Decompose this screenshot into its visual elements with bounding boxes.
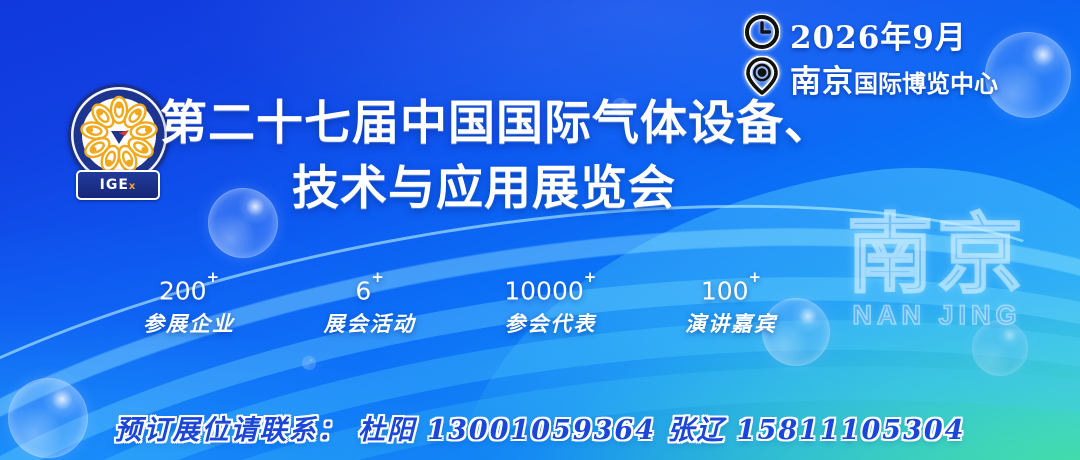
title-line-1: 第二十七届中国国际气体设备、 <box>160 92 800 157</box>
event-date-row: 2026年9月 <box>744 12 1044 56</box>
stat-number: 6+ <box>311 278 429 305</box>
contact-text: 预订展位请联系： 杜阳 13001059364 张辽 15811105304 <box>115 415 966 446</box>
logo-name-banner: IGEx <box>76 170 160 200</box>
stat-item-speakers: 100+ 演讲嘉宾 <box>672 278 790 338</box>
stat-number: 100+ <box>672 278 790 305</box>
bubble-icon-right-lower <box>972 320 1028 376</box>
stat-item-events: 6+ 展会活动 <box>311 278 429 338</box>
stat-item-exhibitors: 200+ 参展企业 <box>130 278 248 338</box>
stats-row: 200+ 参展企业 6+ 展会活动 10000+ 参会代表 100+ 演讲嘉宾 <box>130 278 790 338</box>
ige-logo: IGEx <box>62 84 170 200</box>
bubble-icon-small-lower <box>302 356 316 370</box>
stat-label: 参会代表 <box>491 308 609 338</box>
venue-name: 国际博览中心 <box>854 71 998 98</box>
event-date: 2026年9月 <box>790 12 967 57</box>
stat-number: 10000+ <box>491 278 609 305</box>
stat-item-attendees: 10000+ 参会代表 <box>491 278 609 338</box>
stat-number: 200+ <box>130 278 248 305</box>
nanjing-watermark: 南京 NAN JING <box>812 212 1062 362</box>
title-line-2: 技术与应用展览会 <box>160 157 800 222</box>
watermark-pinyin: NAN JING <box>812 300 1062 331</box>
event-info-block: 2026年9月 南京国际博览中心 <box>744 12 1044 100</box>
stat-label: 演讲嘉宾 <box>672 308 790 338</box>
event-venue: 南京国际博览中心 <box>790 56 998 101</box>
exhibition-banner: 南京 NAN JING 2026年9月 <box>0 0 1080 460</box>
logo-banner-text: IGEx <box>100 178 137 192</box>
logo-flower-icon <box>71 87 167 183</box>
stat-label: 参展企业 <box>130 308 248 338</box>
page-title: 第二十七届中国国际气体设备、 技术与应用展览会 <box>160 92 800 222</box>
clock-icon <box>744 14 780 55</box>
contact-line: 预订展位请联系： 杜阳 13001059364 张辽 15811105304 <box>0 408 1080 447</box>
stat-label: 展会活动 <box>311 308 429 338</box>
watermark-chinese: 南京 <box>812 212 1062 298</box>
